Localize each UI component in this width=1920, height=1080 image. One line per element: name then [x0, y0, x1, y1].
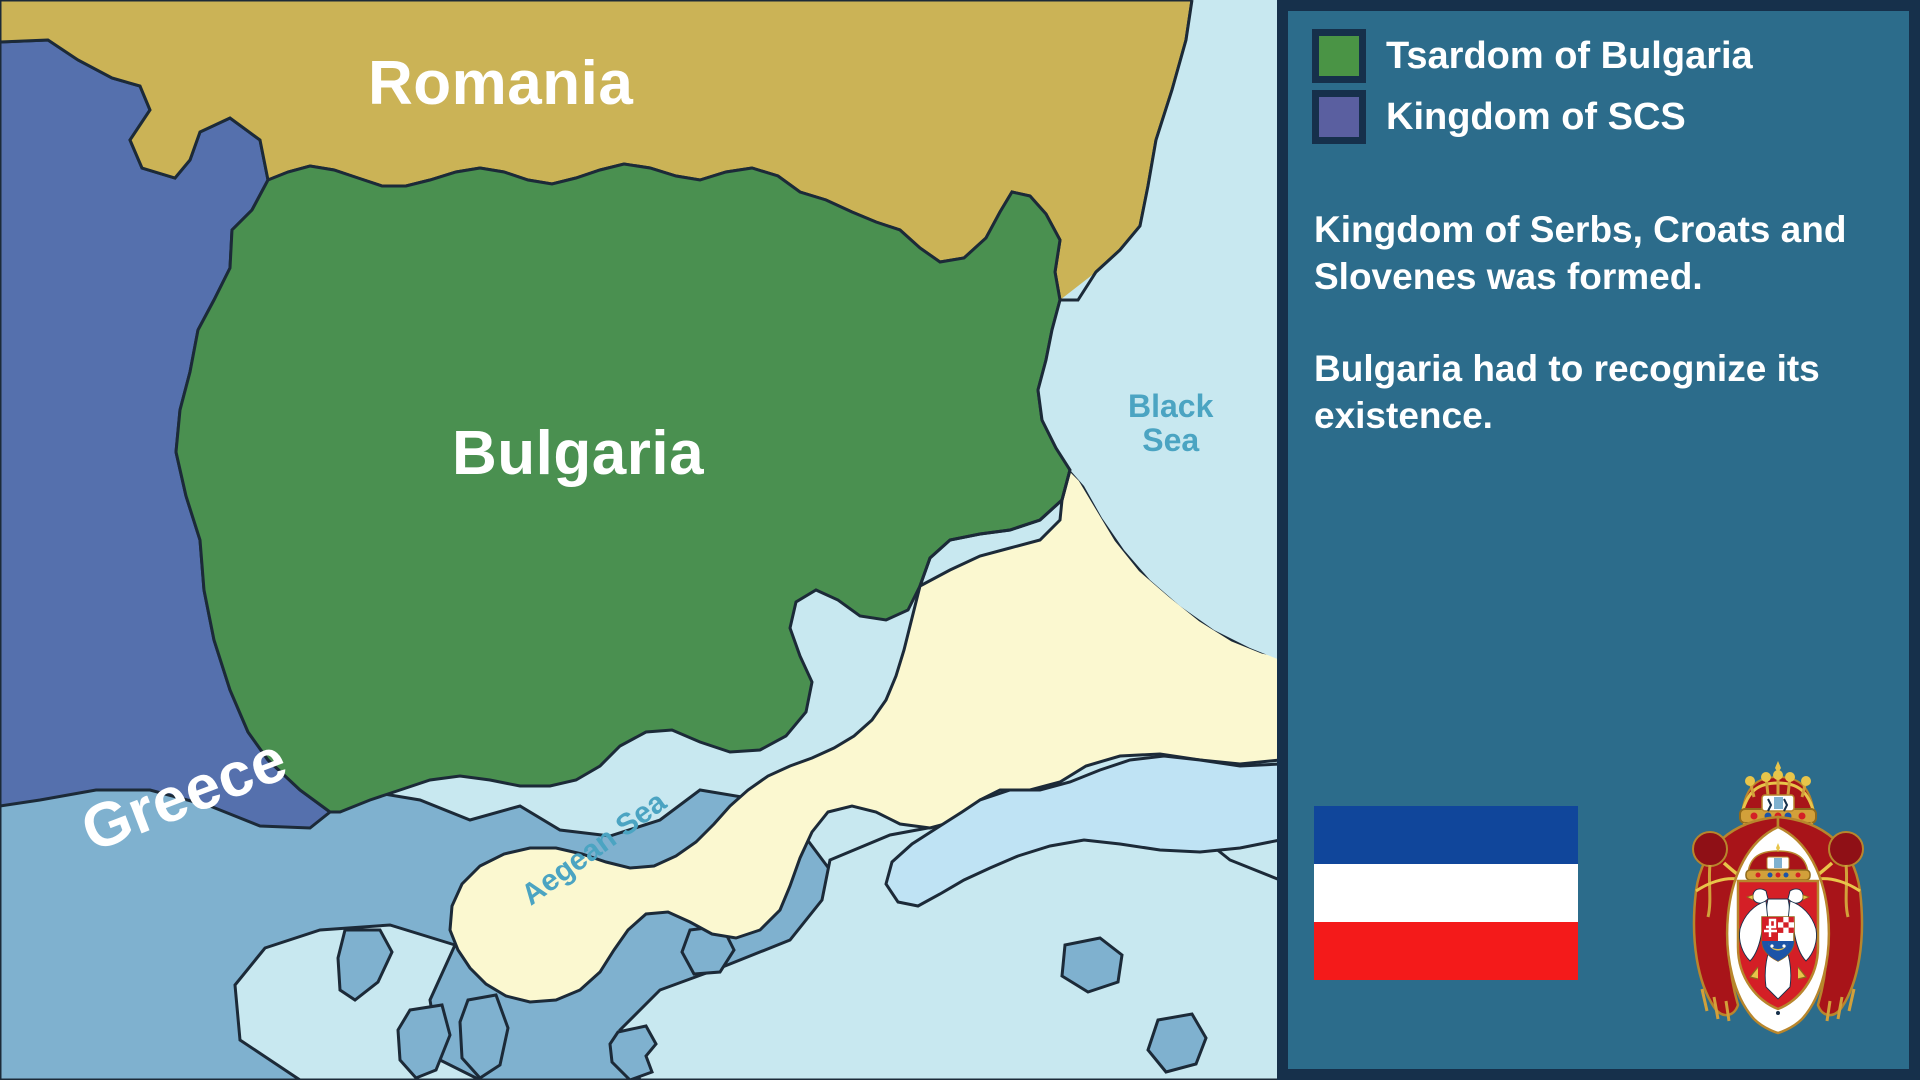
scs-flag	[1314, 806, 1578, 980]
coat-of-arms-artwork	[1662, 751, 1894, 1041]
flag-stripe-blue	[1314, 806, 1578, 864]
legend-info-panel: Tsardom of Bulgaria Kingdom of SCS Kingd…	[1277, 0, 1920, 1080]
map-screenshot: Romania Bulgaria Greece Black Sea Aegean…	[0, 0, 1920, 1080]
scs-coat-of-arms	[1662, 751, 1894, 1041]
legend-item-bulgaria[interactable]: Tsardom of Bulgaria	[1312, 29, 1912, 83]
halkidiki-peninsula-c	[460, 995, 508, 1078]
panel-paragraph-scs-formed: Kingdom of Serbs, Croats and Slovenes wa…	[1314, 207, 1910, 300]
panel-paragraph-bulgaria-recognize: Bulgaria had to recognize its existence.	[1314, 346, 1910, 439]
black-sea-line-1: Black	[1128, 388, 1213, 424]
legend-label-scs: Kingdom of SCS	[1386, 96, 1686, 139]
panel-text-block: Kingdom of Serbs, Croats and Slovenes wa…	[1314, 207, 1910, 485]
legend-swatch-bulgaria	[1312, 29, 1366, 83]
black-sea-line-2: Sea	[1142, 422, 1199, 458]
legend-item-scs[interactable]: Kingdom of SCS	[1312, 90, 1912, 144]
legend-label-bulgaria: Tsardom of Bulgaria	[1386, 35, 1753, 78]
flag-stripe-white	[1314, 864, 1578, 922]
flag-stripe-red	[1314, 922, 1578, 980]
legend-swatch-scs	[1312, 90, 1366, 144]
coa-croatian-checkerboard	[1778, 917, 1794, 933]
legend-list: Tsardom of Bulgaria Kingdom of SCS	[1312, 29, 1912, 151]
map-label-black-sea: Black Sea	[1128, 390, 1213, 457]
